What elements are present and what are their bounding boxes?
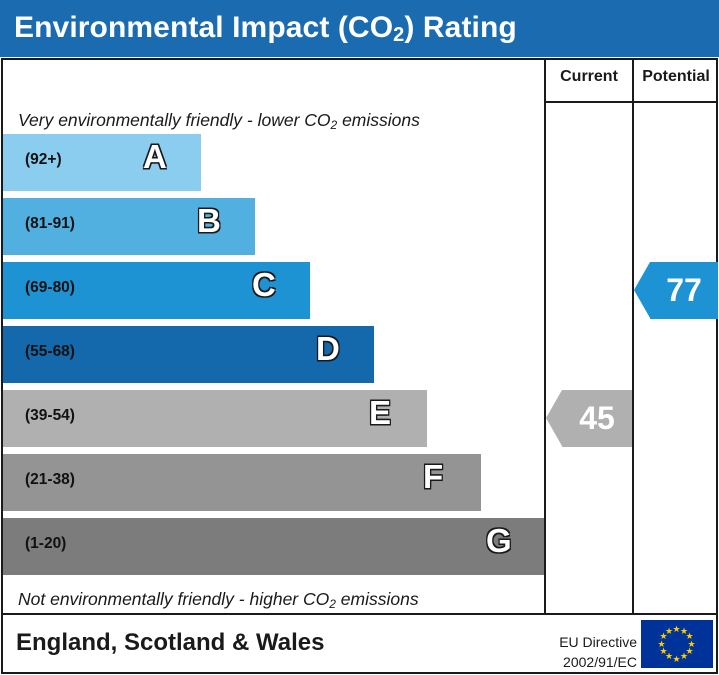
rating-band-letter-b: B: [197, 202, 221, 240]
column-header-underline: [544, 101, 718, 103]
rating-band-letter-e: E: [369, 394, 391, 432]
page-title-prefix: Environmental Impact (CO: [14, 11, 393, 44]
rating-band-letter-f: F: [423, 458, 443, 496]
rating-badge-potential: 77: [634, 262, 718, 319]
rating-band-range-e: (39-54): [25, 407, 75, 425]
caption-top: Very environmentally friendly - lower CO…: [18, 110, 420, 131]
eu-flag-star: ★: [665, 627, 673, 636]
epc-environmental-impact-certificate: Environmental Impact (CO2) Rating Curren…: [0, 0, 719, 675]
eu-flag-star: ★: [680, 652, 688, 661]
page-title: Environmental Impact (CO2) Rating: [14, 11, 517, 45]
rating-band-row-a: (92+)A: [3, 134, 201, 191]
rating-value-current: 45: [562, 390, 632, 447]
rating-band-letter-g: G: [486, 522, 512, 560]
rating-band-row-b: (81-91)B: [3, 198, 255, 255]
rating-value-potential: 77: [650, 262, 718, 319]
rating-band-range-c: (69-80): [25, 279, 75, 297]
rating-band-letter-c: C: [252, 266, 276, 304]
rating-band-row-c: (69-80)C: [3, 262, 310, 319]
caption-bottom: Not environmentally friendly - higher CO…: [18, 589, 419, 610]
rating-band-range-d: (55-68): [25, 343, 75, 361]
certificate-header: Environmental Impact (CO2) Rating: [0, 0, 719, 57]
rating-band-row-d: (55-68)D: [3, 326, 374, 383]
eu-directive-text: EU Directive 2002/91/EC: [527, 632, 637, 673]
rating-band-range-g: (1-20): [25, 535, 66, 553]
rating-bands: (92+)A(81-91)B(69-80)C(55-68)D(39-54)E(2…: [3, 134, 544, 582]
rating-arrow-current: [546, 390, 562, 446]
caption-bottom-prefix: Not environmentally friendly - higher CO: [18, 589, 329, 609]
rating-band-row-e: (39-54)E: [3, 390, 427, 447]
rating-band-bar-g: [3, 518, 544, 575]
page-title-subscript: 2: [393, 24, 404, 46]
eu-directive-line1: EU Directive: [527, 632, 637, 652]
column-header-current: Current: [546, 68, 632, 86]
column-divider-current: [544, 58, 546, 615]
rating-badge-current: 45: [546, 390, 632, 447]
rating-band-range-f: (21-38): [25, 471, 75, 489]
certificate-footer: England, Scotland & Wales EU Directive 2…: [1, 615, 718, 674]
caption-top-prefix: Very environmentally friendly - lower CO: [18, 110, 331, 130]
rating-band-range-a: (92+): [25, 151, 62, 169]
rating-band-range-b: (81-91): [25, 215, 75, 233]
rating-arrow-potential: [634, 262, 650, 318]
caption-bottom-suffix: emissions: [336, 589, 419, 609]
footer-region-label: England, Scotland & Wales: [16, 629, 324, 657]
caption-bottom-subscript: 2: [329, 597, 336, 611]
column-header-potential: Potential: [634, 68, 718, 86]
rating-band-row-g: (1-20)G: [3, 518, 544, 575]
rating-band-letter-d: D: [316, 330, 340, 368]
caption-top-subscript: 2: [331, 118, 338, 132]
eu-flag-star: ★: [673, 655, 681, 664]
eu-directive-line2: 2002/91/EC: [527, 652, 637, 672]
page-title-suffix: ) Rating: [404, 11, 516, 44]
caption-top-suffix: emissions: [337, 110, 420, 130]
eu-flag-icon: ★★★★★★★★★★★★: [641, 620, 713, 668]
rating-band-row-f: (21-38)F: [3, 454, 481, 511]
column-divider-potential: [632, 58, 634, 615]
rating-band-letter-a: A: [143, 138, 167, 176]
